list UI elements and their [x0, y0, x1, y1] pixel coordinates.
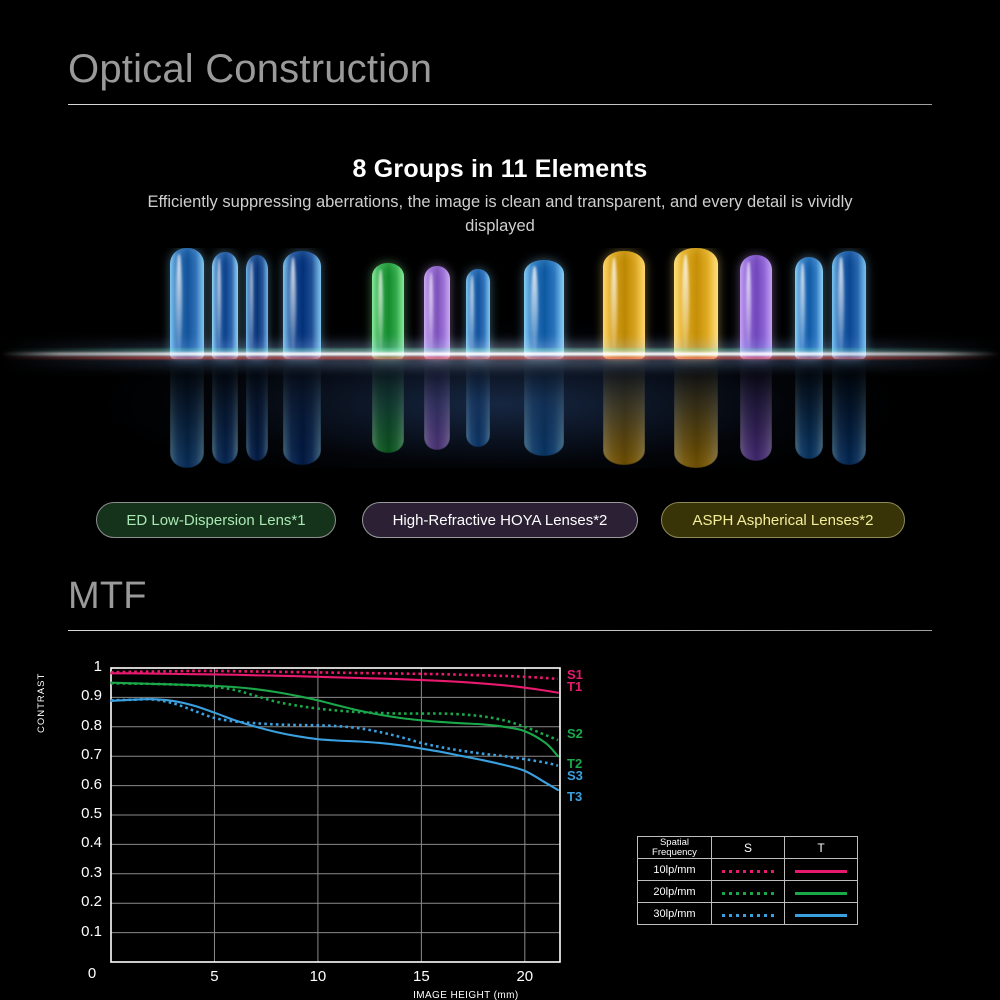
- section-divider-mtf: [68, 630, 932, 631]
- solid-line-swatch: [795, 870, 847, 873]
- x-tick-0: 0: [80, 968, 104, 980]
- legend-frequency: 20lp/mm: [638, 881, 712, 903]
- lens-highlight-element-1: [176, 254, 181, 353]
- lens-reflection-element-11-hoya: [740, 361, 772, 461]
- y-tick-0.2: 0.2: [46, 896, 102, 908]
- x-tick-10: 10: [298, 968, 338, 985]
- series-label-s2: S2: [567, 726, 583, 741]
- lens-highlight-element-5-ed: [378, 269, 383, 353]
- lens-highlight-element-13: [838, 257, 843, 353]
- badge-label: ED Low-Dispersion Lens*1: [126, 512, 305, 529]
- lens-reflection-element-12: [795, 361, 823, 459]
- lens-element-1: [170, 248, 204, 359]
- mtf-curve-s2: [111, 683, 558, 740]
- y-tick-1: 1: [46, 661, 102, 673]
- y-tick-0.6: 0.6: [46, 779, 102, 791]
- y-tick-0.3: 0.3: [46, 867, 102, 879]
- legend-swatch-t: [785, 881, 858, 903]
- lens-highlight-element-2: [217, 258, 221, 353]
- legend-swatch-s: [712, 881, 785, 903]
- lens-element-10-asph: [674, 248, 718, 359]
- dotted-line-swatch: [722, 870, 774, 873]
- lens-highlight-element-10-asph: [682, 254, 689, 353]
- section-title-optical-construction: Optical Construction: [68, 47, 432, 92]
- lens-element-2: [212, 252, 238, 359]
- legend-swatch-s: [712, 859, 785, 881]
- mtf-curve-t3: [111, 699, 558, 790]
- mtf-legend-table: Spatial Frequency S T 10lp/mm20lp/mm30lp…: [637, 836, 858, 925]
- lens-element-13: [832, 251, 866, 359]
- lens-element-4: [283, 251, 321, 359]
- lens-reflection-element-5-ed: [372, 361, 404, 453]
- lens-element-6-hoya: [424, 266, 450, 359]
- lens-reflection-element-7: [466, 361, 490, 447]
- solid-line-swatch: [795, 914, 847, 917]
- y-tick-0.7: 0.7: [46, 749, 102, 761]
- lens-highlight-element-4: [290, 257, 296, 353]
- lens-reflection-element-2: [212, 361, 238, 464]
- badge-3[interactable]: ASPH Aspherical Lenses*2: [661, 502, 905, 538]
- legend-frequency: 30lp/mm: [638, 903, 712, 925]
- section-divider-optical: [68, 104, 932, 105]
- lens-reflection-element-4: [283, 361, 321, 465]
- mtf-curve-s3: [111, 699, 558, 765]
- x-tick-20: 20: [505, 968, 545, 985]
- mtf-curve-t1: [111, 673, 558, 692]
- x-tick-15: 15: [401, 968, 441, 985]
- legend-row: 10lp/mm: [638, 859, 858, 881]
- lens-element-11-hoya: [740, 255, 772, 359]
- page-root: Optical Construction 8 Groups in 11 Elem…: [0, 0, 1000, 1000]
- legend-swatch-t: [785, 859, 858, 881]
- mtf-plot-area: [108, 665, 563, 965]
- lens-reflection-element-10-asph: [674, 361, 718, 468]
- legend-header-line2: Frequency: [652, 847, 697, 858]
- legend-row: 20lp/mm: [638, 881, 858, 903]
- lens-highlight-element-12: [800, 263, 804, 353]
- y-tick-0.1: 0.1: [46, 926, 102, 938]
- y-tick-0.4: 0.4: [46, 837, 102, 849]
- legend-header-spatial-frequency: Spatial Frequency: [638, 837, 712, 859]
- legend-frequency: 10lp/mm: [638, 859, 712, 881]
- legend-swatch-t: [785, 903, 858, 925]
- y-tick-0.8: 0.8: [46, 720, 102, 732]
- hero-headline: 8 Groups in 11 Elements: [0, 155, 1000, 184]
- badge-label: High-Refractive HOYA Lenses*2: [393, 512, 608, 529]
- lens-highlight-element-11-hoya: [746, 261, 751, 353]
- hero-subtitle: Efficiently suppressing aberrations, the…: [112, 190, 888, 238]
- legend-swatch-s: [712, 903, 785, 925]
- dotted-line-swatch: [722, 914, 774, 917]
- legend-header-s: S: [712, 837, 785, 859]
- series-label-t1: T1: [567, 679, 582, 694]
- badge-1[interactable]: ED Low-Dispersion Lens*1: [96, 502, 336, 538]
- x-tick-5: 5: [194, 968, 234, 985]
- lens-element-8: [524, 260, 564, 359]
- lens-element-5-ed: [372, 263, 404, 359]
- lens-highlight-element-6-hoya: [429, 272, 433, 353]
- mtf-curve-t2: [111, 683, 558, 757]
- lens-construction-diagram: [0, 248, 1000, 488]
- series-label-t3: T3: [567, 789, 582, 804]
- dotted-line-swatch: [722, 892, 774, 895]
- badge-label: ASPH Aspherical Lenses*2: [693, 512, 874, 529]
- lens-reflection-element-1: [170, 361, 204, 468]
- lens-reflection-element-3: [246, 361, 268, 461]
- solid-line-swatch: [795, 892, 847, 895]
- lens-element-9-asph: [603, 251, 645, 359]
- x-axis-title: IMAGE HEIGHT (mm): [413, 990, 519, 1000]
- y-tick-0.9: 0.9: [46, 690, 102, 702]
- y-tick-0.5: 0.5: [46, 808, 102, 820]
- legend-header-row: Spatial Frequency S T: [638, 837, 858, 859]
- legend-row: 30lp/mm: [638, 903, 858, 925]
- section-title-mtf: MTF: [68, 575, 147, 618]
- lens-reflection-element-6-hoya: [424, 361, 450, 450]
- lens-highlight-element-8: [531, 266, 537, 353]
- legend-header-t: T: [785, 837, 858, 859]
- lens-reflection-element-8: [524, 361, 564, 456]
- mtf-chart: CONTRAST 10.90.80.70.60.50.40.30.20.10 5…: [0, 640, 1000, 1000]
- badge-2[interactable]: High-Refractive HOYA Lenses*2: [362, 502, 638, 538]
- lens-reflection-element-9-asph: [603, 361, 645, 465]
- lens-reflection-element-13: [832, 361, 866, 465]
- legend-body: 10lp/mm20lp/mm30lp/mm: [638, 859, 858, 925]
- series-label-s3: S3: [567, 768, 583, 783]
